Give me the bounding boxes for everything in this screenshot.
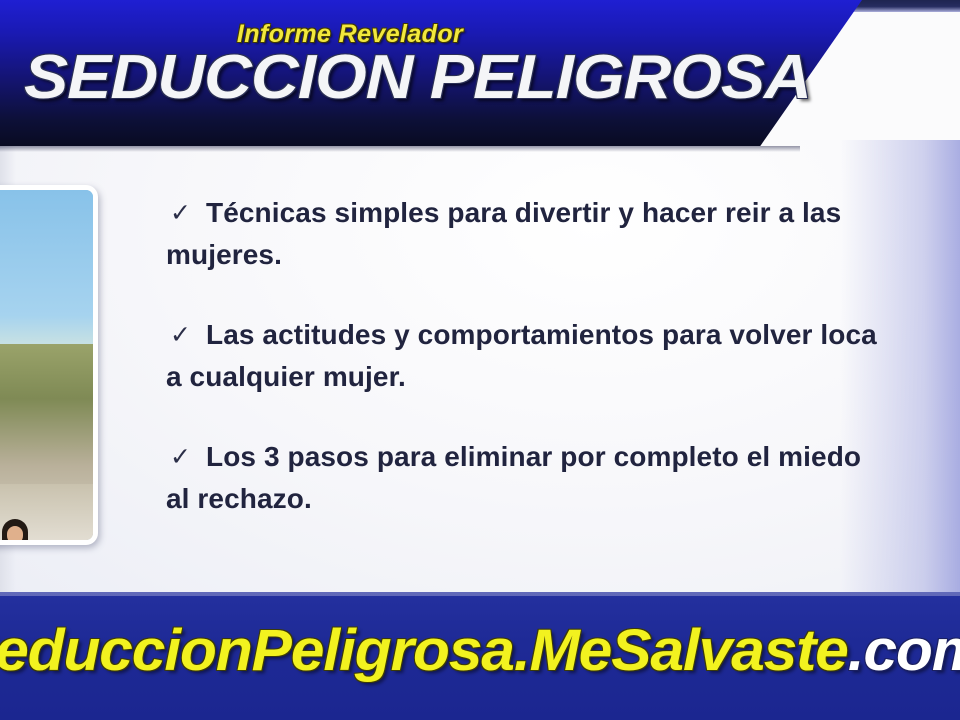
check-icon: ✓ bbox=[170, 192, 191, 234]
page-title: SEDUCCION PELIGROSA bbox=[24, 47, 811, 109]
header-banner-shadow bbox=[0, 146, 800, 152]
website-url[interactable]: SeduccionPeligrosa.MeSalvaste.com bbox=[0, 616, 960, 686]
list-item-line-1: Los 3 pasos para eliminar por completo e… bbox=[206, 441, 861, 472]
list-item: ✓ Técnicas simples para divertir y hacer… bbox=[166, 192, 960, 276]
list-item: ✓ Los 3 pasos para eliminar por completo… bbox=[166, 436, 960, 520]
url-bar: SeduccionPeligrosa.MeSalvaste.com bbox=[0, 592, 960, 720]
photo-sky bbox=[0, 190, 93, 351]
slide-canvas: Informe Revelador SEDUCCION PELIGROSA ✓ … bbox=[0, 0, 960, 720]
check-icon: ✓ bbox=[170, 314, 191, 356]
list-item-line-1: Las actitudes y comportamientos para vol… bbox=[206, 319, 877, 350]
list-item-line-2: mujeres. bbox=[166, 234, 960, 276]
check-icon: ✓ bbox=[170, 436, 191, 478]
url-domain: SeduccionPeligrosa.MeSalvaste bbox=[0, 618, 848, 683]
list-item-line-2: al rechazo. bbox=[166, 478, 960, 520]
benefits-list: ✓ Técnicas simples para divertir y hacer… bbox=[166, 192, 960, 558]
list-item-line-1: Técnicas simples para divertir y hacer r… bbox=[206, 197, 841, 228]
url-tld: .com bbox=[848, 618, 960, 683]
list-item-line-2: a cualquier mujer. bbox=[166, 356, 960, 398]
figure-face bbox=[7, 526, 23, 544]
url-bar-highlight bbox=[0, 592, 960, 596]
two-women-beach-photo bbox=[0, 185, 98, 545]
list-item: ✓ Las actitudes y comportamientos para v… bbox=[166, 314, 960, 398]
